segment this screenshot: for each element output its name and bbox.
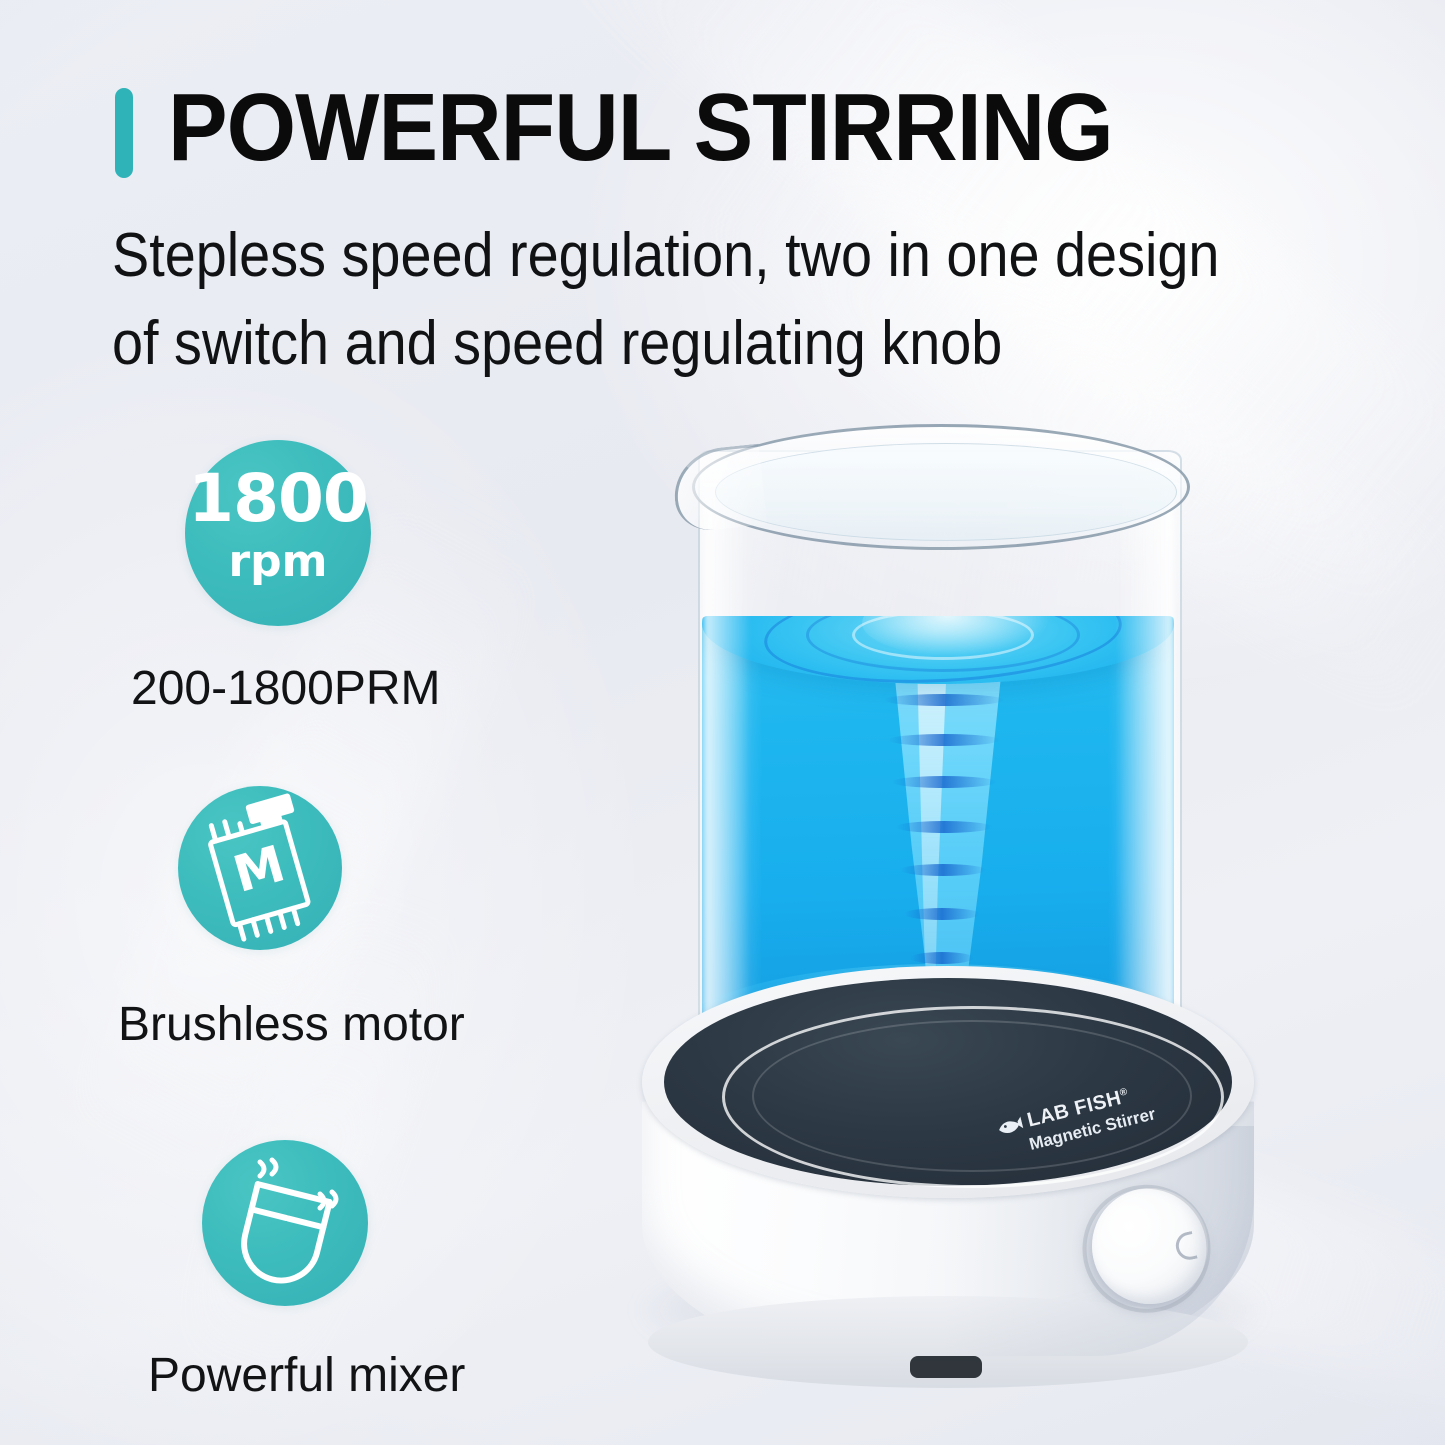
stirrer-foot	[910, 1356, 982, 1378]
page-title: POWERFUL STIRRING	[168, 78, 1238, 179]
glass-highlight-left	[704, 460, 748, 1040]
product-feature-banner: POWERFUL STIRRING Stepless speed regulat…	[0, 0, 1445, 1445]
rpm-badge-icon: 1800 rpm	[185, 440, 371, 626]
page-subtitle: Stepless speed regulation, two in one de…	[112, 212, 1255, 388]
beaker-rim-inner	[715, 443, 1177, 541]
vortex-strand	[896, 821, 992, 833]
rpm-badge-value: 1800	[185, 466, 371, 532]
registered-mark: ®	[1119, 1086, 1129, 1099]
vortex-strand	[904, 908, 980, 920]
vortex-strand	[884, 694, 1004, 706]
magnetic-stirrer-unit: LAB FISH® Magnetic Stirrer	[642, 966, 1254, 1386]
subtitle-line-2: of switch and speed regulating knob	[112, 300, 1255, 388]
vortex-strand	[892, 776, 996, 788]
feature-label-mixer: Powerful mixer	[148, 1348, 465, 1403]
beaker-pour-spout	[670, 444, 767, 534]
beaker-rim	[692, 424, 1190, 550]
vortex-strand	[900, 864, 986, 876]
motor-chip-icon: M	[178, 786, 342, 950]
horseshoe-magnet-icon	[202, 1140, 368, 1306]
accent-bar	[115, 88, 133, 178]
feature-label-rpm: 200-1800PRM	[131, 661, 441, 716]
vortex-strand	[910, 952, 974, 964]
fish-logo-icon	[995, 1114, 1025, 1138]
vortex-strand	[888, 734, 1000, 746]
feature-label-motor: Brushless motor	[118, 997, 465, 1052]
rpm-badge-unit: rpm	[185, 540, 371, 584]
motor-icon-letter: M	[227, 834, 291, 903]
glass-highlight-right	[1118, 460, 1174, 1040]
subtitle-line-1: Stepless speed regulation, two in one de…	[112, 212, 1255, 300]
stirring-plate: LAB FISH® Magnetic Stirrer	[642, 966, 1254, 1198]
product-image: LAB FISH® Magnetic Stirrer	[600, 420, 1300, 1430]
